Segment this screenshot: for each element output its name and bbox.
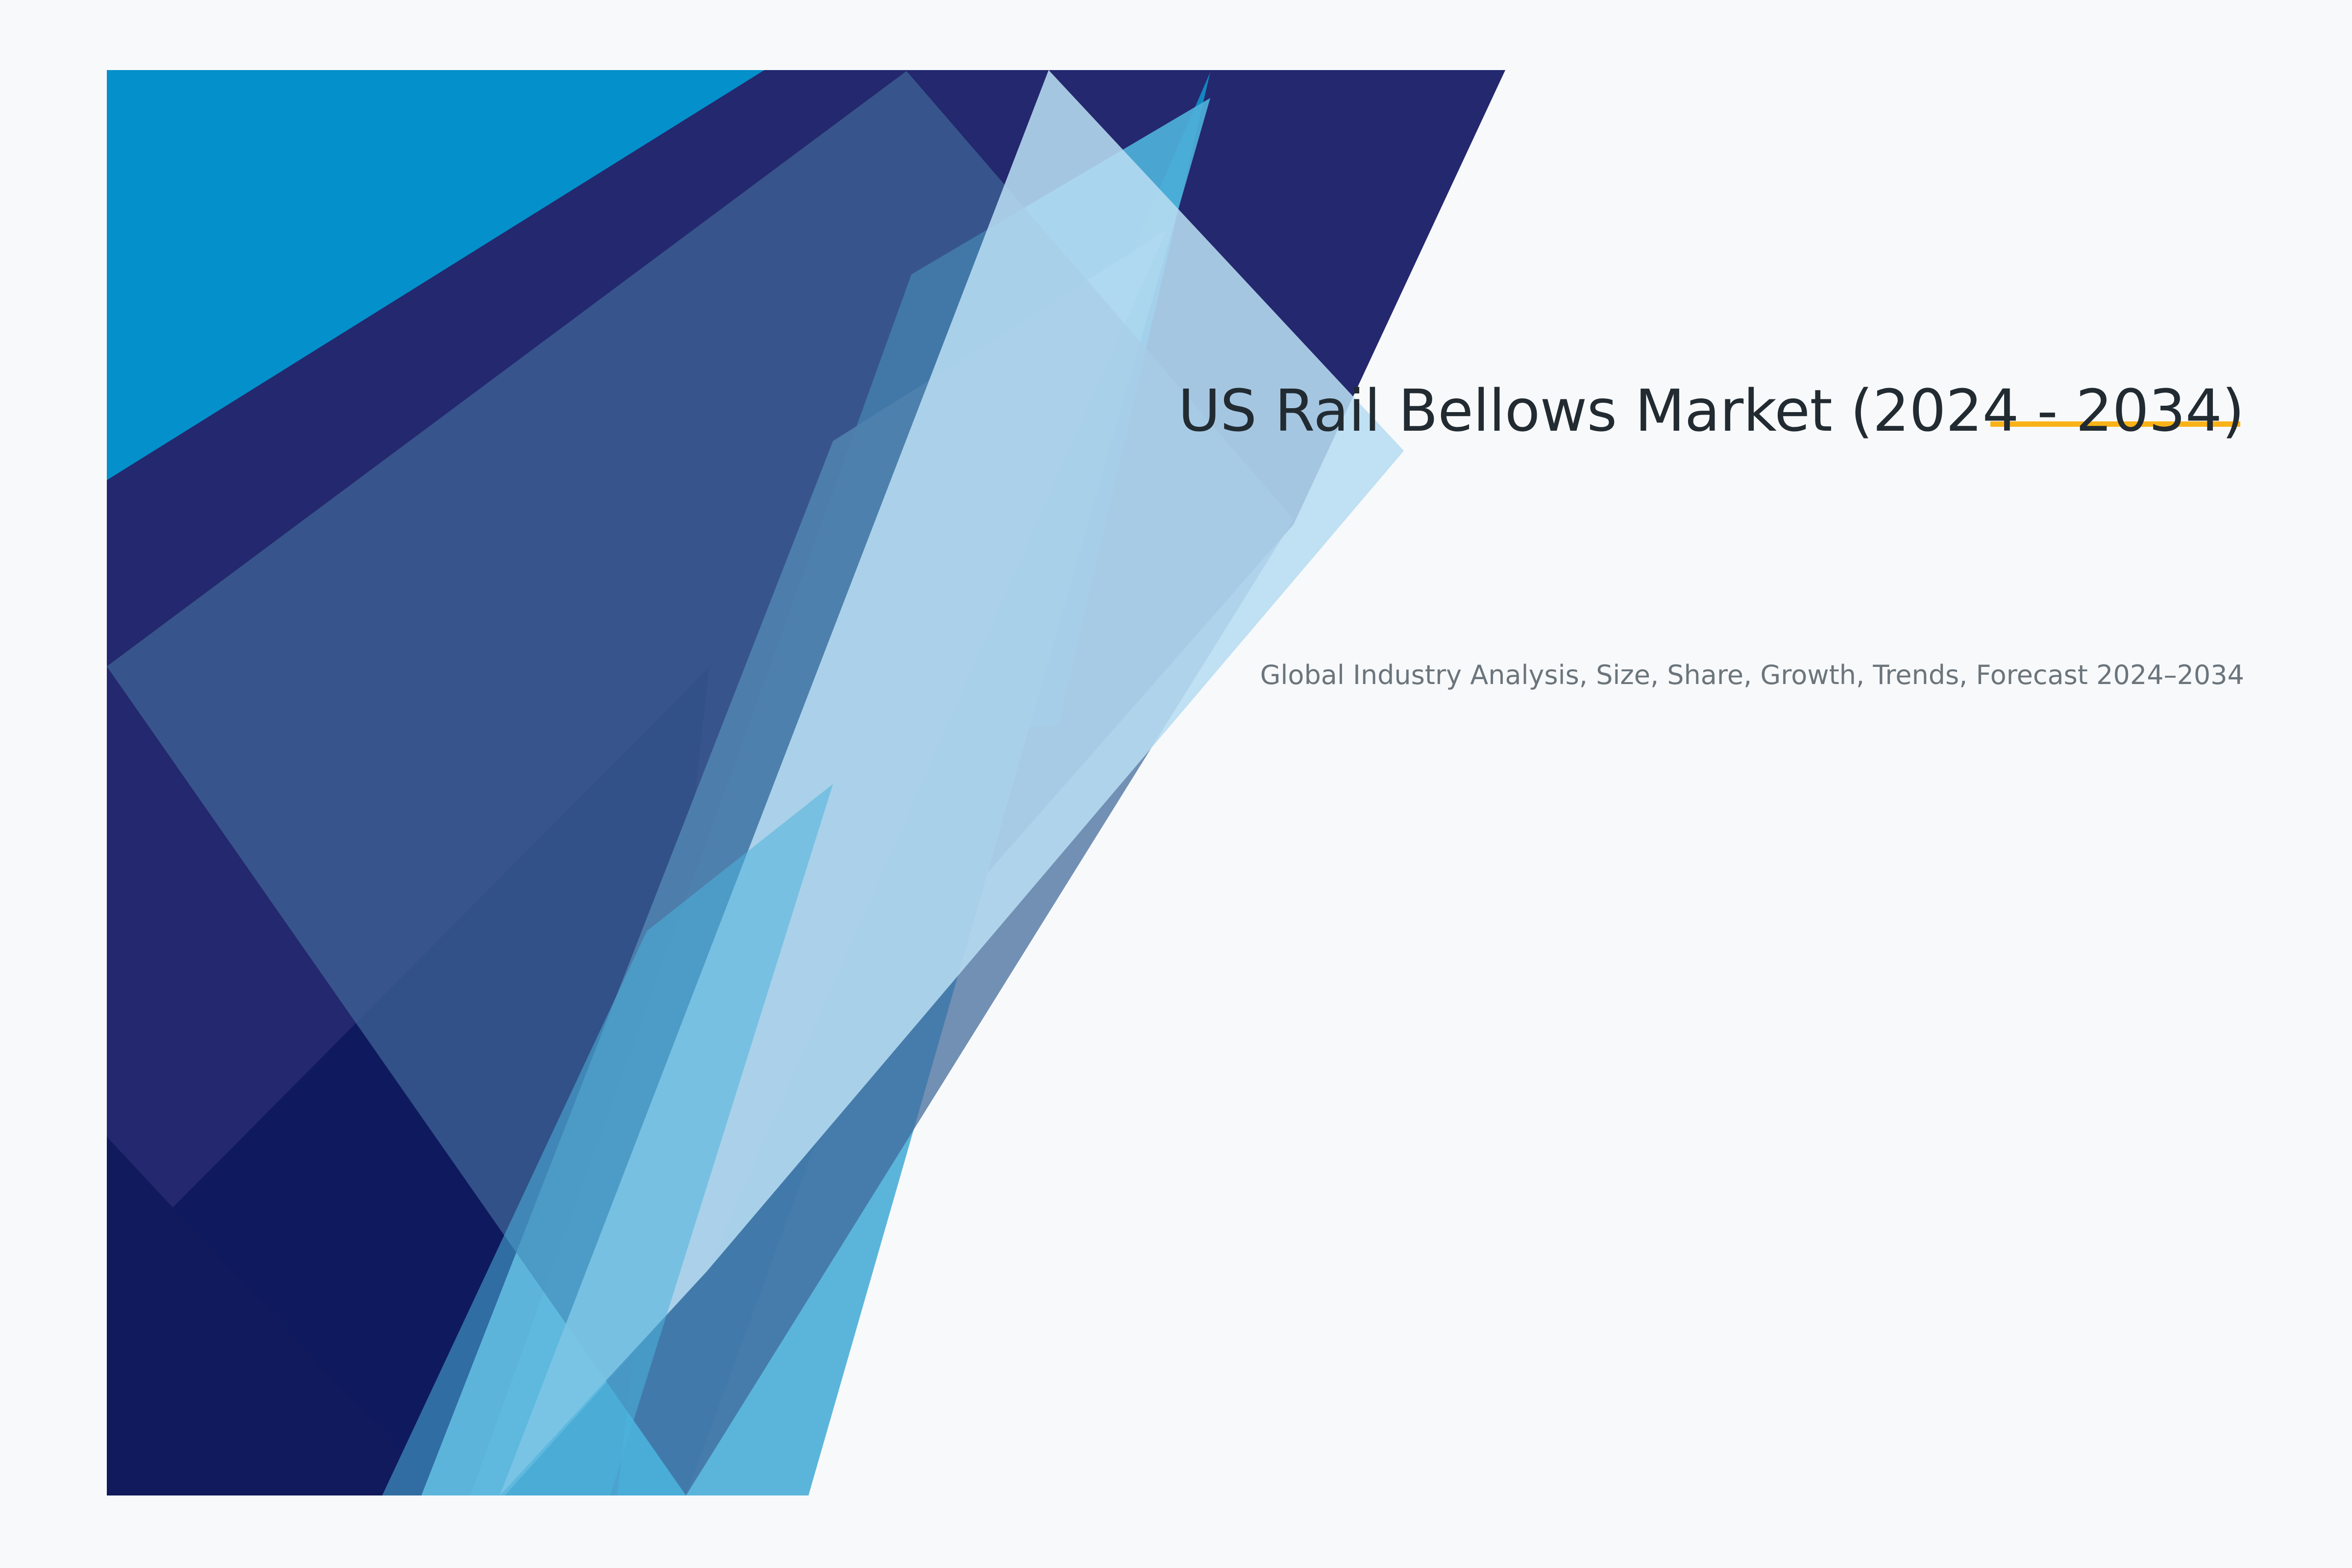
shape-pale-blue-sheet [500,70,1404,1495]
page-title: US Rail Bellows Market (2024 - 2034) [1058,372,2244,449]
shape-light-blue-wedge [421,230,1166,1495]
shape-slate-quad [107,71,1294,1495]
cover-text-block: US Rail Bellows Market (2024 - 2034) Glo… [1058,372,2244,449]
cover-slide: US Rail Bellows Market (2024 - 2034) Glo… [0,0,2352,1568]
shape-navy-band [107,70,1505,1495]
geometric-artwork [0,0,2352,1568]
shape-navy-corner [1210,70,1505,519]
shape-deep-navy-block [107,1137,441,1495]
page-subtitle: Global Industry Analysis, Size, Share, G… [1058,657,2244,694]
shape-cyan-ribbon [382,784,833,1495]
title-wrapper: US Rail Bellows Market (2024 - 2034) [1058,372,2244,449]
shape-sky-blue-sheet [470,98,1210,1495]
shape-cyan-field [107,70,1210,1495]
shape-deep-navy-wedge [107,667,709,1495]
